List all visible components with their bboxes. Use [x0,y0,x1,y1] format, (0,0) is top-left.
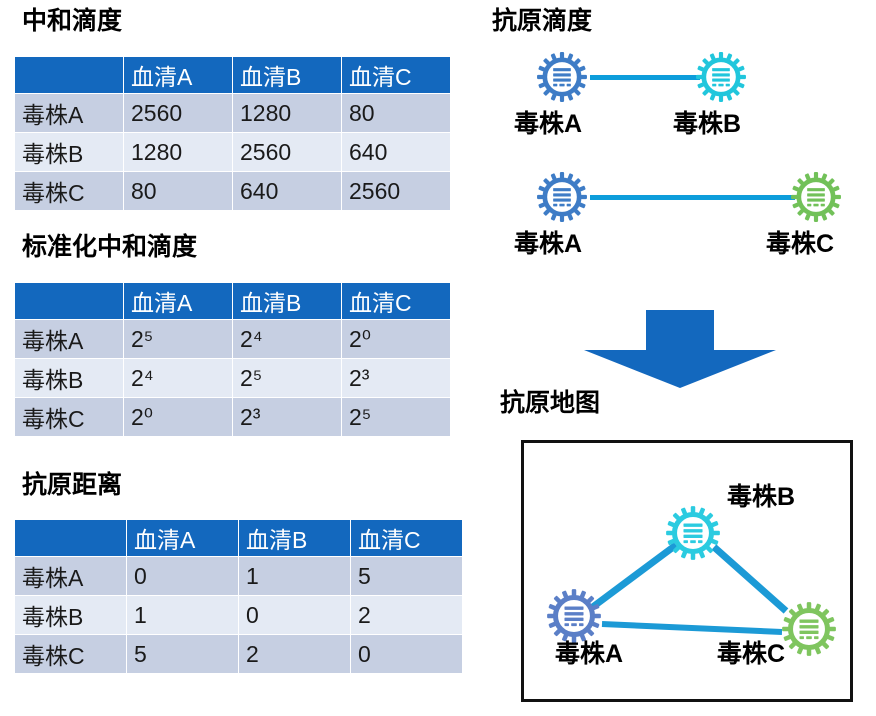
cell-value: 2 [239,635,350,673]
cell-value: 0 [127,557,238,595]
row-label-strain-a: 毒株A [15,94,123,132]
cell-value: 80 [124,172,232,210]
table-title-neutralization: 中和滴度 [22,6,122,36]
table-row: 毒株C 2⁰ 2³ 2⁵ [15,398,450,436]
table-normalized-titer: 血清A 血清B 血清C 毒株A 2⁵ 2⁴ 2⁰ 毒株B 2⁴ 2⁵ 2³ 毒株… [14,282,451,437]
table-row: 毒株C 80 640 2560 [15,172,450,210]
table-row: 毒株A 2560 1280 80 [15,94,450,132]
column-header-serum-c: 血清C [342,57,450,93]
virus-icon-strain-a-2 [536,171,588,223]
column-header-serum-b: 血清B [233,57,341,93]
cell-value: 1280 [233,94,341,132]
column-header-serum-b: 血清B [239,520,350,556]
cell-value: 2⁵ [124,320,232,358]
virus-icon-strain-a [536,51,588,103]
table-header-row: 血清A 血清B 血清C [15,283,450,319]
antigenic-map-box: 毒株B 毒株A 毒株C [521,440,853,702]
table-header-row: 血清A 血清B 血清C [15,57,450,93]
column-header-serum-c: 血清C [351,520,462,556]
cell-value: 1 [239,557,350,595]
row-label-strain-a: 毒株A [15,320,123,358]
virus-icon-strain-b [695,51,747,103]
map-virus-icon-strain-c [781,601,837,657]
table-title-normalized-neutralization: 标准化中和滴度 [22,232,197,262]
cell-value: 2⁴ [124,359,232,397]
strain-label-c-pair2: 毒株C [766,230,834,258]
cell-value: 5 [351,557,462,595]
cell-value: 2 [351,596,462,634]
row-label-strain-b: 毒株B [15,596,126,634]
cell-value: 2560 [342,172,450,210]
column-header-serum-b: 血清B [233,283,341,319]
cell-value: 5 [127,635,238,673]
table-row: 毒株A 2⁵ 2⁴ 2⁰ [15,320,450,358]
cell-value: 640 [233,172,341,210]
cell-value: 80 [342,94,450,132]
cell-value: 2⁰ [342,320,450,358]
cell-value: 2³ [342,359,450,397]
table-antigenic-distance: 血清A 血清B 血清C 毒株A 0 1 5 毒株B 1 0 2 毒株C 5 2 [14,519,463,674]
cell-value: 0 [239,596,350,634]
table-row: 毒株B 1280 2560 640 [15,133,450,171]
table-neutralization-titer: 血清A 血清B 血清C 毒株A 2560 1280 80 毒株B 1280 25… [14,56,451,211]
map-virus-icon-strain-a [546,588,602,644]
link-line-a-c [590,195,795,200]
cell-value: 2560 [233,133,341,171]
map-strain-label-b: 毒株B [727,483,795,511]
table-row: 毒株A 0 1 5 [15,557,462,595]
row-label-strain-c: 毒株C [15,635,126,673]
cell-value: 640 [342,133,450,171]
strain-label-a-pair2: 毒株A [514,230,582,258]
column-header-serum-c: 血清C [342,283,450,319]
cell-value: 2³ [233,398,341,436]
cell-value: 2⁴ [233,320,341,358]
strain-label-a-pair1: 毒株A [514,110,582,138]
column-header-serum-a: 血清A [124,283,232,319]
virus-icon-strain-c [790,171,842,223]
row-label-strain-c: 毒株C [15,172,123,210]
column-header-serum-a: 血清A [127,520,238,556]
table-row: 毒株C 5 2 0 [15,635,462,673]
cell-value: 2⁵ [233,359,341,397]
row-label-strain-b: 毒株B [15,359,123,397]
cell-value: 2560 [124,94,232,132]
tables-panel: 中和滴度 血清A 血清B 血清C 毒株A 2560 1280 80 毒株B 12… [0,0,470,716]
table-title-antigenic-distance: 抗原距离 [22,470,122,500]
cell-value: 1 [127,596,238,634]
antigen-titer-title: 抗原滴度 [492,6,592,36]
row-label-strain-a: 毒株A [15,557,126,595]
strain-label-b-pair1: 毒株B [673,110,741,138]
map-strain-label-c: 毒株C [717,640,785,668]
map-virus-icon-strain-b [665,505,721,561]
column-header-serum-a: 血清A [124,57,232,93]
table-row: 毒株B 2⁴ 2⁵ 2³ [15,359,450,397]
table-corner-cell [15,283,123,319]
cell-value: 2⁰ [124,398,232,436]
cell-value: 2⁵ [342,398,450,436]
row-label-strain-c: 毒株C [15,398,123,436]
diagram-panel: 抗原滴度 [470,0,876,716]
down-arrow-icon [584,310,776,388]
row-label-strain-b: 毒株B [15,133,123,171]
table-corner-cell [15,57,123,93]
table-header-row: 血清A 血清B 血清C [15,520,462,556]
cell-value: 1280 [124,133,232,171]
table-corner-cell [15,520,126,556]
link-line-a-b [590,75,700,80]
antigen-map-title: 抗原地图 [500,388,600,418]
map-strain-label-a: 毒株A [555,640,623,668]
table-row: 毒株B 1 0 2 [15,596,462,634]
cell-value: 0 [351,635,462,673]
